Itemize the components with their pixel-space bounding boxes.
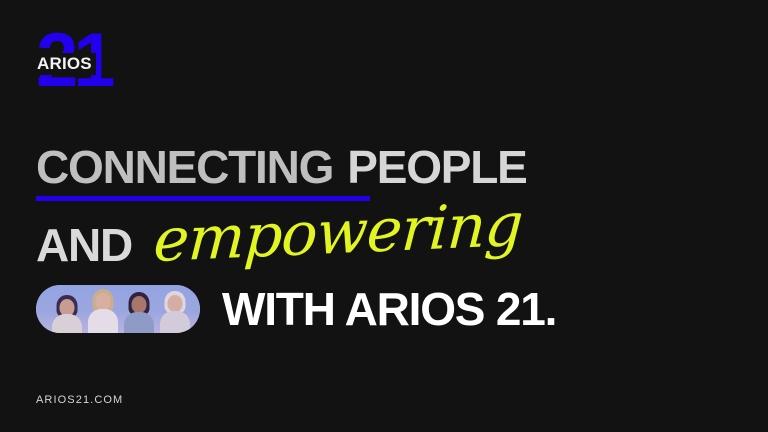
figure-head <box>96 293 111 310</box>
photo-figure <box>158 290 192 333</box>
footer-website[interactable]: ARIOS21.COM <box>36 394 123 406</box>
figure-body <box>160 311 190 333</box>
photo-figure <box>122 291 156 333</box>
headline-line-1: CONNECTING PEOPLE <box>36 142 736 192</box>
figure-body <box>52 314 82 333</box>
logo-wordmark-band: ARIOS <box>33 53 96 75</box>
logo-wordmark: ARIOS <box>37 55 92 72</box>
figure-body <box>124 312 154 333</box>
promo-slide: 21 ARIOS CONNECTING PEOPLE AND empowerin… <box>0 0 768 432</box>
headline-script-empowering: empowering <box>152 194 524 272</box>
figure-body <box>88 309 118 333</box>
headline-line-2: AND empowering <box>36 210 521 272</box>
headline-word-people: PEOPLE <box>347 142 526 192</box>
headline-line-3-text: WITH ARIOS 21. <box>222 284 556 334</box>
photo-figure <box>86 289 120 333</box>
arios-logo[interactable]: 21 ARIOS <box>36 22 94 100</box>
figure-head <box>168 295 183 312</box>
headline-block: CONNECTING PEOPLE AND empowering <box>36 142 736 192</box>
headline-word-and: AND <box>36 220 132 270</box>
figure-head <box>132 296 147 313</box>
headline-word-connecting: CONNECTING <box>36 142 333 192</box>
team-photo-pill[interactable] <box>36 285 200 333</box>
photo-figure <box>50 293 84 333</box>
headline-line-3: WITH ARIOS 21. <box>36 284 556 334</box>
